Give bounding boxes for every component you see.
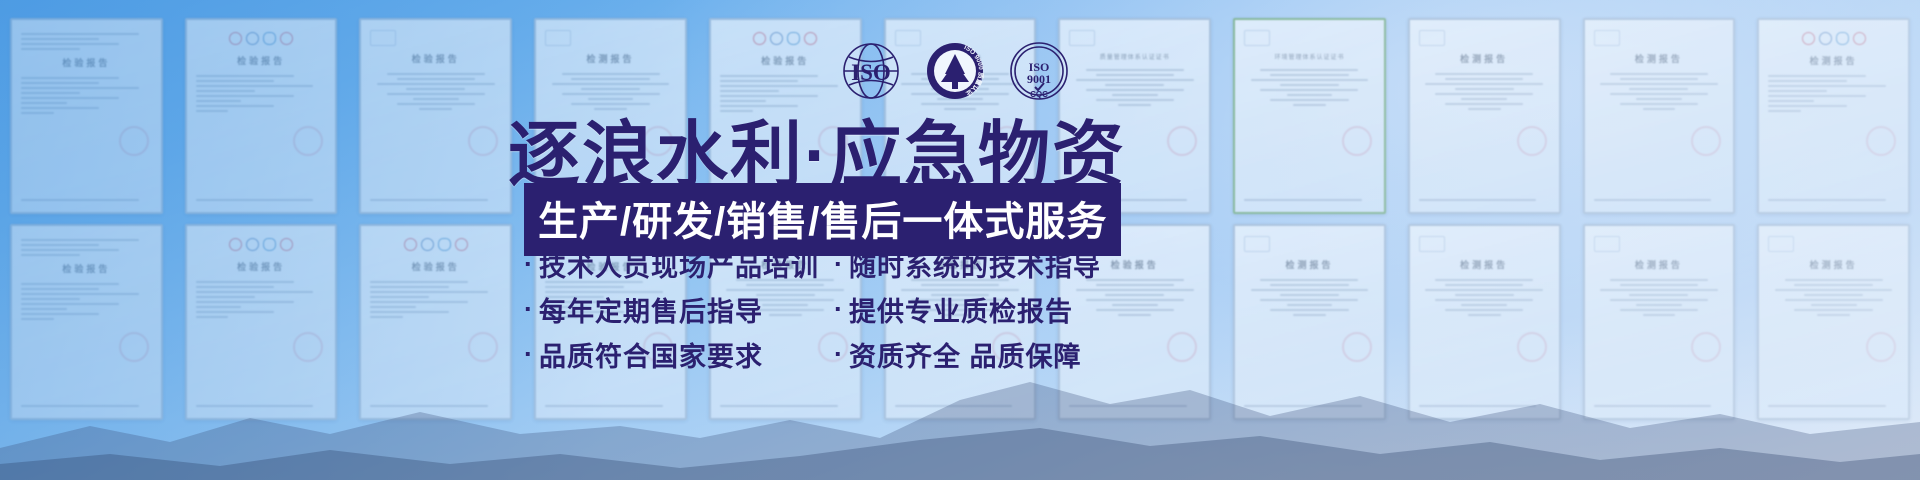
feature-bullet-label: 技术人员现场产品培训 [539,245,819,284]
feature-bullet: ·资质齐全 品质保障 [834,335,1101,374]
feature-bullet-label: 每年定期售后指导 [539,290,763,329]
bullet-dot-icon: · [524,341,534,368]
feature-bullet-label: 品质符合国家要求 [539,335,763,374]
feature-bullet: ·品质符合国家要求 [524,335,814,374]
feature-bullet-label: 随时系统的技术指导 [849,245,1101,284]
promo-banner: 检验报告检验报告检验报告检测报告检验报告检验报告质量管理体系认证证书环境管理体系… [0,0,1920,480]
bullet-dot-icon: · [524,296,534,323]
feature-bullet-label: 提供专业质检报告 [849,290,1073,329]
feature-bullet: ·随时系统的技术指导 [834,245,1101,284]
feature-bullet-label: 资质齐全 品质保障 [849,335,1082,374]
bullet-dot-icon: · [524,251,534,278]
bullet-dot-icon: · [834,296,844,323]
banner-content: 逐浪水利·应急物资 生产/研发/销售/售后一体式服务 ·技术人员现场产品培训·随… [0,0,1920,480]
bullet-dot-icon: · [834,251,844,278]
feature-bullet: ·技术人员现场产品培训 [524,245,814,284]
feature-bullet: ·提供专业质检报告 [834,290,1101,329]
feature-bullet: ·每年定期售后指导 [524,290,814,329]
bullet-dot-icon: · [834,341,844,368]
feature-bullet-list: ·技术人员现场产品培训·随时系统的技术指导·每年定期售后指导·提供专业质检报告·… [524,245,1101,374]
